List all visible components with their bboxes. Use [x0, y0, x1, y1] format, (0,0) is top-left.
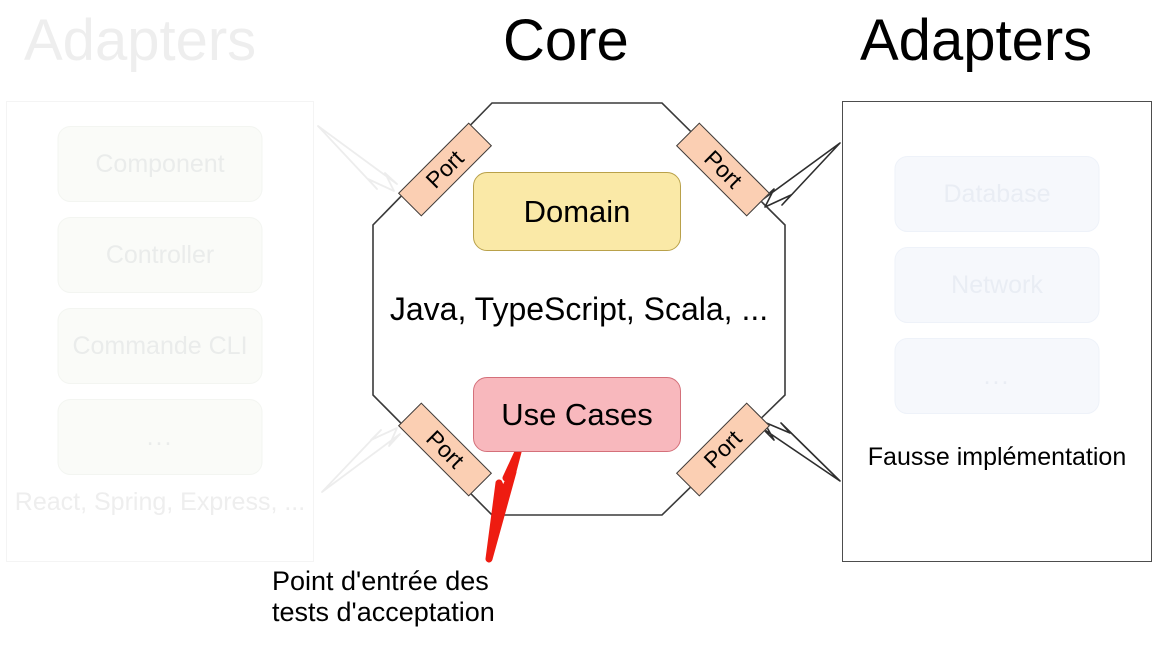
port-label: Port [699, 425, 748, 474]
adapter-chip-controller: Controller [58, 217, 263, 293]
adapters-panel-right: Database Network ... Fausse implémentati… [842, 101, 1152, 562]
core-box-use-cases-label: Use Cases [501, 397, 653, 433]
arrow-right-bottom [762, 422, 840, 481]
core-languages-label: Java, TypeScript, Scala, ... [373, 291, 785, 328]
core-box-domain: Domain [473, 172, 681, 251]
adapter-chip-label: ... [147, 423, 174, 452]
adapter-chip-label: Commande CLI [72, 332, 247, 361]
arrow-left-top [318, 126, 397, 191]
diagram-canvas: Adapters Core Adapters Component Control… [0, 0, 1158, 650]
port-label: Port [421, 145, 470, 194]
core-box-use-cases: Use Cases [473, 377, 681, 452]
adapter-chip-label: Controller [106, 241, 214, 270]
adapter-chip-label: ... [984, 362, 1011, 391]
port-top-right: Port [676, 122, 770, 216]
adapter-chip-commande-cli: Commande CLI [58, 308, 263, 384]
adapters-panel-left: Component Controller Commande CLI ... Re… [6, 101, 314, 562]
port-label: Port [699, 145, 748, 194]
adapter-chip-more: ... [58, 399, 263, 475]
port-bottom-right: Port [676, 402, 770, 496]
heading-adapters-right: Adapters [860, 12, 1092, 70]
heading-adapters-left: Adapters [24, 12, 256, 70]
arrow-right-top [762, 143, 840, 207]
adapters-right-note: Fausse implémentation [843, 442, 1151, 472]
adapter-chip-component: Component [58, 126, 263, 202]
acceptance-test-arrow [489, 452, 518, 559]
adapter-chip-database: Database [895, 156, 1100, 232]
core-box-domain-label: Domain [524, 194, 631, 230]
adapter-chip-network: Network [895, 247, 1100, 323]
adapters-left-note: React, Spring, Express, ... [7, 487, 313, 517]
adapter-chip-more: ... [895, 338, 1100, 414]
arrow-left-bottom [322, 428, 400, 492]
port-label: Port [421, 425, 470, 474]
adapter-chip-label: Network [951, 271, 1043, 300]
acceptance-tests-caption: Point d'entrée des tests d'acceptation [272, 566, 495, 628]
heading-core: Core [503, 12, 629, 70]
adapter-chip-label: Component [95, 150, 224, 179]
adapter-chip-label: Database [943, 180, 1050, 209]
